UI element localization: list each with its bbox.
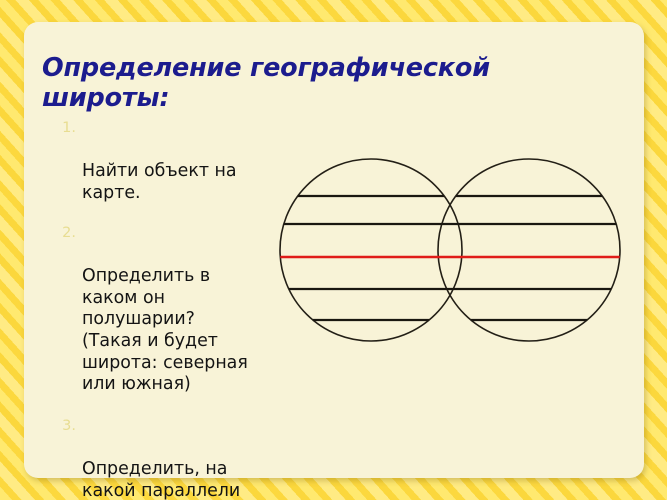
hemisphere-circle-east — [438, 159, 620, 341]
list-item-marker: 1. — [52, 119, 76, 137]
page-title: Определение географической широты: — [42, 54, 602, 114]
content-card: Определение географической широты: 1. На… — [24, 22, 644, 478]
hemispheres-svg — [279, 132, 667, 362]
list-item: 3. Определить, на какой параллели распол… — [46, 416, 298, 500]
slide-canvas: Определение географической широты: 1. На… — [0, 0, 667, 500]
list-item-text: Определить в каком он полушарии? (Такая … — [82, 266, 248, 394]
list-item: 2. Определить в каком он полушарии? (Так… — [46, 223, 298, 396]
list-item: 1. Найти объект на карте. — [46, 118, 298, 205]
hemisphere-circle-west — [280, 159, 462, 341]
list-item-marker: 3. — [52, 417, 76, 435]
list-item-marker: 2. — [52, 224, 76, 242]
list-item-text: Определить, на какой параллели расположе… — [82, 459, 240, 500]
hemispheres-diagram — [279, 132, 667, 362]
steps-list: 1. Найти объект на карте. 2. Определить … — [46, 118, 298, 500]
list-item-text: Найти объект на карте. — [82, 161, 237, 203]
